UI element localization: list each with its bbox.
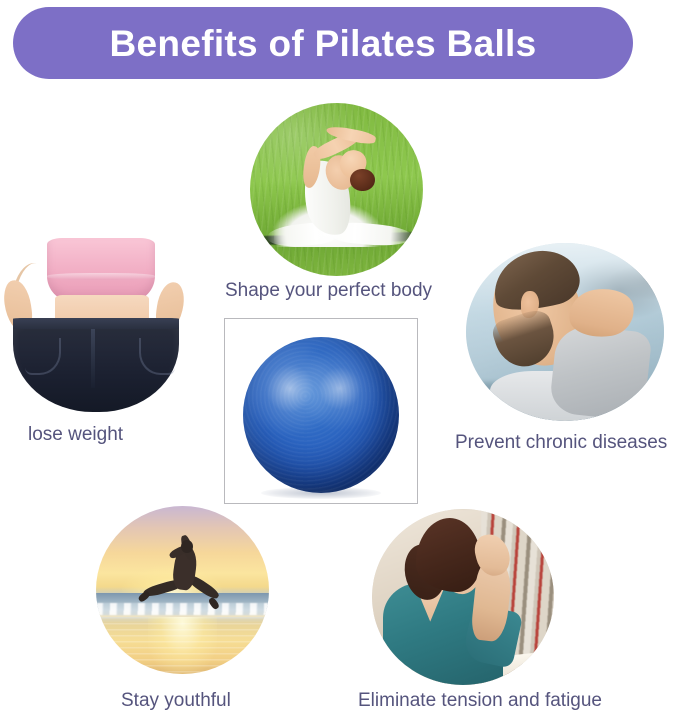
jeans-waistband xyxy=(13,318,179,329)
benefit-image-prevent-chronic-diseases xyxy=(466,243,664,421)
surf-line xyxy=(96,603,269,615)
benefit-image-stay-youthful xyxy=(96,506,269,674)
head-silhouette xyxy=(181,540,193,553)
water-ripples xyxy=(96,617,269,674)
ball-texture xyxy=(243,337,399,493)
benefit-image-lose-weight xyxy=(3,232,203,418)
sweater-sleeve xyxy=(549,324,653,421)
ball-shadow xyxy=(261,487,381,499)
hair-bun xyxy=(350,169,374,191)
pink-top-fold xyxy=(47,273,155,280)
pilates-ball xyxy=(243,337,399,493)
benefit-caption-stay-youthful: Stay youthful xyxy=(121,691,231,712)
product-image-frame xyxy=(224,318,418,504)
benefit-caption-prevent-chronic-diseases: Prevent chronic diseases xyxy=(455,433,667,454)
benefit-caption-lose-weight: lose weight xyxy=(28,425,123,446)
benefit-caption-shape-your-perfect-body: Shape your perfect body xyxy=(225,281,432,302)
benefit-image-shape-your-perfect-body xyxy=(250,103,423,276)
benefit-caption-eliminate-tension-and-fatigue: Eliminate tension and fatigue xyxy=(358,691,602,712)
pink-top xyxy=(47,238,155,301)
jeans-fly xyxy=(91,329,95,389)
benefit-image-eliminate-tension-and-fatigue xyxy=(372,509,554,685)
title-banner: Benefits of Pilates Balls xyxy=(13,7,633,79)
page-title: Benefits of Pilates Balls xyxy=(110,25,537,62)
